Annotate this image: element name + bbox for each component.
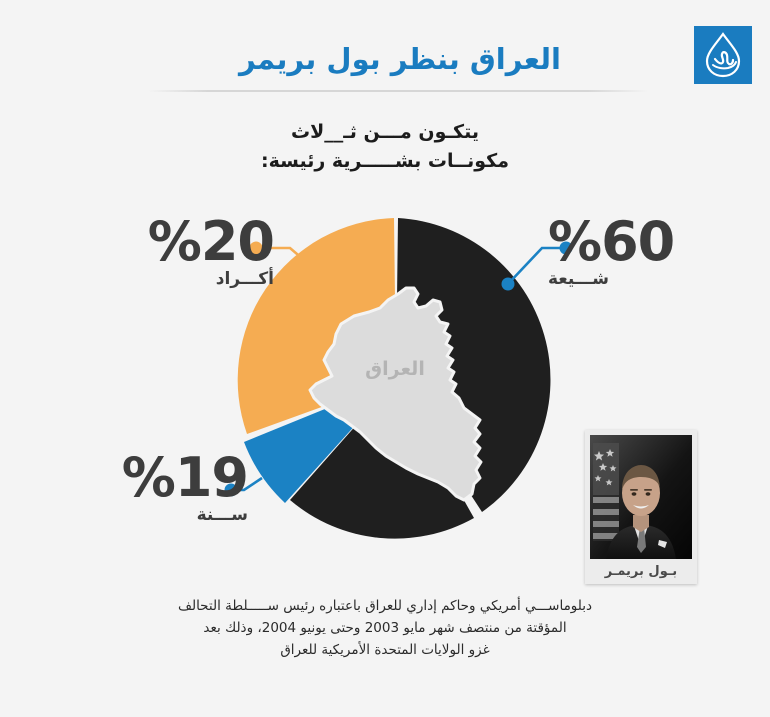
subtitle: يتكـون مـــن ثـ__لاث مكونــات بشـــــرية… <box>185 118 585 175</box>
page-title: العراق بنظر بول بريمر <box>150 42 650 77</box>
pie-chart <box>228 212 564 548</box>
callout-shia-value: %60 <box>548 216 726 267</box>
description-line-1: دبلوماســـي أمريكي وحاكم إداري للعراق با… <box>175 596 595 618</box>
portrait-card: بـول بريمـر <box>585 430 697 584</box>
callout-kurds-value: %20 <box>96 216 274 267</box>
title-divider <box>148 90 648 92</box>
description-paragraph: دبلوماســـي أمريكي وحاكم إداري للعراق با… <box>175 596 595 662</box>
callout-sunni[interactable]: %19 ســـنة <box>72 452 248 525</box>
description-line-2: المؤقتة من منتصف شهر مايو 2003 وحتى يوني… <box>175 618 595 640</box>
description-line-3: غزو الولايات المتحدة الأمريكية للعراق <box>175 640 595 662</box>
subtitle-line-2: مكونــات بشـــــرية رئيسة: <box>185 147 585 176</box>
callout-shia[interactable]: %60 شـــيعة <box>548 216 726 289</box>
callout-sunni-value: %19 <box>72 452 248 503</box>
callout-kurds[interactable]: %20 أكـــراد <box>96 216 274 289</box>
subtitle-line-1: يتكـون مـــن ثـ__لاث <box>185 118 585 147</box>
al-jazeera-logo <box>694 26 752 84</box>
portrait-caption: بـول بريمـر <box>590 559 692 584</box>
infographic-canvas: العراق بنظر بول بريمر يتكـون مـــن ثـ__ل… <box>0 0 770 717</box>
paul-bremer-portrait <box>590 435 692 559</box>
